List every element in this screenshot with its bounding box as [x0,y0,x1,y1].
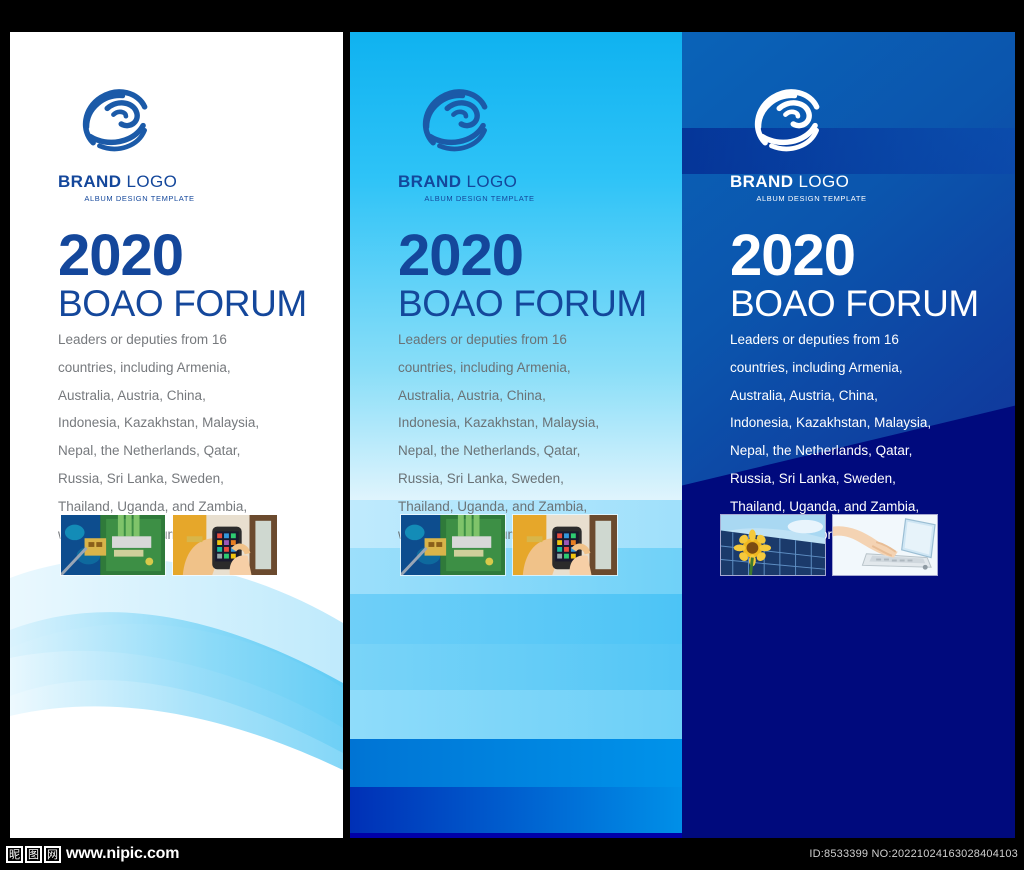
photo-strip [400,514,618,576]
brand-name: BRAND [58,172,121,191]
headline-block: 2020 BOAO FORUM [398,228,678,324]
headline-block: 2020 BOAO FORUM [730,228,1010,324]
nipic-cn-mark: 昵 图 网 [6,846,61,863]
brand-logo: BRAND LOGO ALBUM DESIGN TEMPLATE [398,85,628,203]
body-line: countries, including Armenia, [398,354,666,382]
brand-word-logo: LOGO [127,172,178,191]
headline-title: BOAO FORUM [58,285,338,324]
body-line: Australia, Austria, China, [58,382,326,410]
brand-logo: BRAND LOGO ALBUM DESIGN TEMPLATE [58,85,288,203]
globe-swirl-icon [76,85,154,163]
cn-char: 图 [25,846,42,863]
smartphone-in-hand-photo [512,514,618,576]
panel-dark-blue: BRAND LOGO ALBUM DESIGN TEMPLATE 2020 BO… [682,32,1015,838]
nipic-logo: 昵 图 网 www.nipic.com [6,845,179,863]
headline-title: BOAO FORUM [398,285,678,324]
brand-word-logo: LOGO [467,172,518,191]
body-line: Nepal, the Netherlands, Qatar, [58,437,326,465]
brand-tagline: ALBUM DESIGN TEMPLATE [730,194,893,203]
body-line: Russia, Sri Lanka, Sweden, [58,465,326,493]
body-line: Russia, Sri Lanka, Sweden, [398,465,666,493]
body-line: Indonesia, Kazakhstan, Malaysia, [730,409,998,437]
nipic-url: www.nipic.com [66,845,179,863]
body-line: Australia, Austria, China, [398,382,666,410]
poster-canvas: BRAND LOGO ALBUM DESIGN TEMPLATE 2020 BO… [0,0,1024,870]
circuit-board-photo [60,514,166,576]
hand-on-laptop-photo [832,514,938,576]
cn-char: 昵 [6,846,23,863]
body-line: countries, including Armenia, [730,354,998,382]
body-line: Russia, Sri Lanka, Sweden, [730,465,998,493]
headline-year: 2020 [58,228,338,283]
body-line: Indonesia, Kazakhstan, Malaysia, [398,409,666,437]
headline-block: 2020 BOAO FORUM [58,228,338,324]
footer-watermark-bar: 昵 图 网 www.nipic.com ID:8533399 NO:202210… [0,838,1024,870]
brand-tagline: ALBUM DESIGN TEMPLATE [58,194,221,203]
cn-char: 网 [44,846,61,863]
body-line: Nepal, the Netherlands, Qatar, [398,437,666,465]
asset-id-label: ID:8533399 NO:20221024163028404103 [809,848,1018,860]
body-line: Indonesia, Kazakhstan, Malaysia, [58,409,326,437]
brand-word-logo: LOGO [799,172,850,191]
headline-year: 2020 [398,228,678,283]
globe-swirl-icon [748,85,826,163]
brand-tagline: ALBUM DESIGN TEMPLATE [398,194,561,203]
body-line: Leaders or deputies from 16 [730,326,998,354]
panel-white-wave: BRAND LOGO ALBUM DESIGN TEMPLATE 2020 BO… [10,32,343,838]
body-line: Leaders or deputies from 16 [398,326,666,354]
brand-logo: BRAND LOGO ALBUM DESIGN TEMPLATE [730,85,960,203]
headline-title: BOAO FORUM [730,285,1010,324]
headline-year: 2020 [730,228,1010,283]
brand-name: BRAND [398,172,461,191]
body-line: Nepal, the Netherlands, Qatar, [730,437,998,465]
body-line: Leaders or deputies from 16 [58,326,326,354]
photo-strip [60,514,278,576]
solar-panel-sunflower-photo [720,514,826,576]
globe-swirl-icon [416,85,494,163]
body-line: countries, including Armenia, [58,354,326,382]
panel-cyan-gradient: BRAND LOGO ALBUM DESIGN TEMPLATE 2020 BO… [350,32,683,838]
body-line: Australia, Austria, China, [730,382,998,410]
photo-strip [720,514,938,576]
brand-name: BRAND [730,172,793,191]
smartphone-in-hand-photo [172,514,278,576]
circuit-board-photo [400,514,506,576]
